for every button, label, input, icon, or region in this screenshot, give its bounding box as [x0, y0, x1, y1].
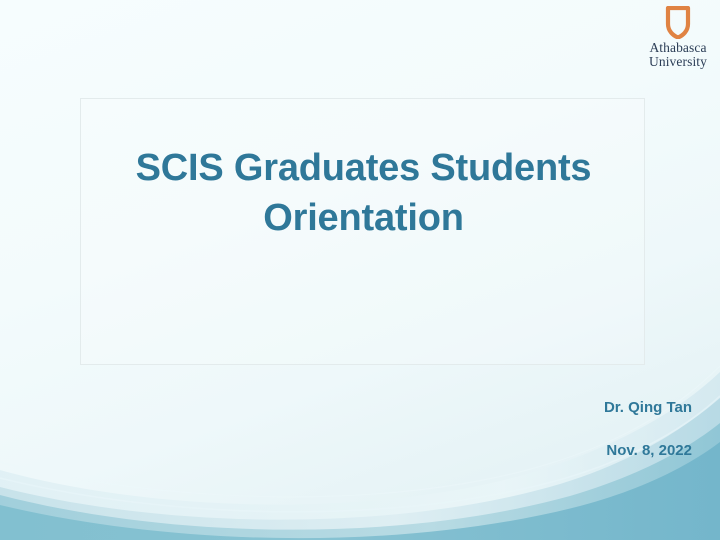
- shield-icon: [665, 6, 691, 39]
- shield-icon-wrapper: [641, 6, 715, 40]
- university-name-line-2: University: [641, 55, 715, 69]
- presenter-name: Dr. Qing Tan: [604, 399, 692, 416]
- slide-title: SCIS Graduates Students Orientation: [81, 143, 646, 243]
- presentation-slide: Athabasca University SCIS Graduates Stud…: [0, 0, 720, 540]
- title-placeholder-box: SCIS Graduates Students Orientation: [80, 98, 645, 365]
- university-name-line-1: Athabasca: [641, 41, 715, 55]
- presentation-date: Nov. 8, 2022: [606, 442, 692, 459]
- university-name: Athabasca University: [641, 41, 715, 68]
- athabasca-university-logo: Athabasca University: [641, 6, 715, 76]
